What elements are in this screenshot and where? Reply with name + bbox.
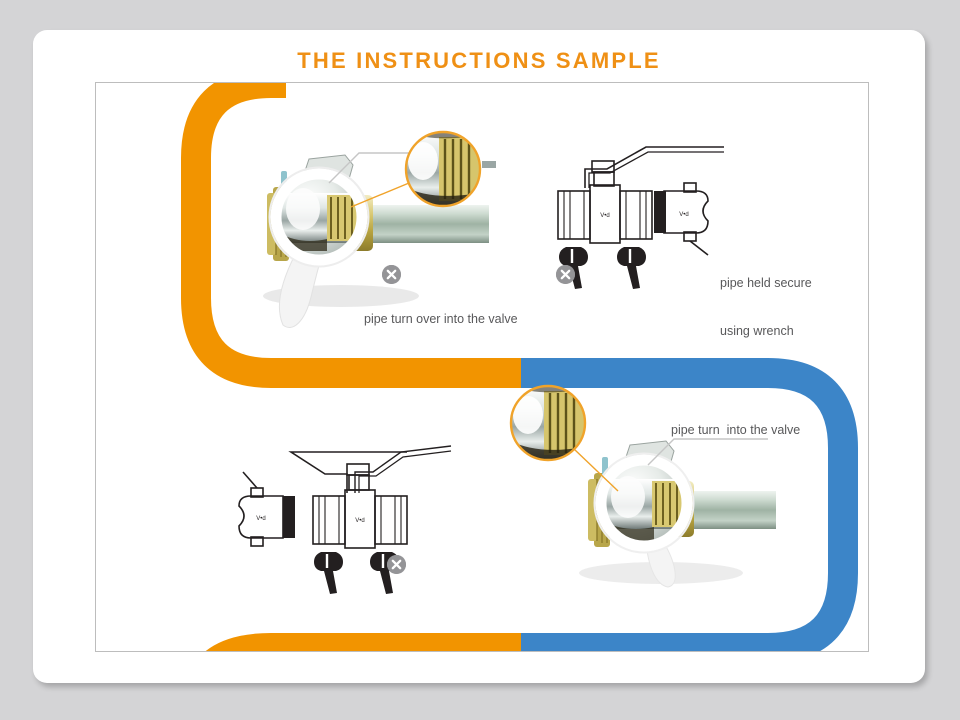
slide-root: THE INSTRUCTIONS SAMPLE <box>0 0 960 720</box>
valve-stem-nut <box>347 464 369 475</box>
x-marker-incorrect-3 <box>387 555 406 574</box>
callout-leader <box>690 241 708 255</box>
valve-lever <box>585 147 724 188</box>
valve-end-right <box>375 496 407 544</box>
x-marker-incorrect-2 <box>556 265 575 284</box>
x-marker-incorrect-1 <box>382 265 401 284</box>
content-frame: V•d V•d <box>95 82 869 652</box>
fitting-end-cap <box>283 496 295 538</box>
lineart-valve-wrench-bottom: V•d V•d <box>221 438 451 588</box>
photo-valve-top <box>231 121 496 336</box>
photo-valve-bottom <box>496 373 776 588</box>
valve-marking-2: V•d <box>256 516 265 522</box>
page-title: THE INSTRUCTIONS SAMPLE <box>33 48 925 74</box>
caption-line-1: pipe held secure <box>720 275 812 291</box>
valve-end-left <box>558 191 590 239</box>
callout-leader <box>243 472 257 488</box>
caption-line-2: using wrench <box>720 323 812 339</box>
wrench-icon-left <box>314 552 343 594</box>
caption-pipe-turn-into: pipe turn into the valve <box>671 422 800 438</box>
steel-pipe <box>692 491 776 529</box>
valve-marking-1: V•d <box>600 213 609 219</box>
caption-pipe-held-secure: pipe held secure using wrench <box>720 243 812 371</box>
zoom-callout-circle-icon <box>406 132 480 206</box>
valve-end-left <box>313 496 345 544</box>
steel-pipe <box>371 205 489 243</box>
caption-pipe-turn-over: pipe turn over into the valve <box>364 311 518 327</box>
path-segment-orange-bottom <box>196 648 521 652</box>
fitting-end-cap <box>654 191 666 233</box>
valve-marking-1: V•d <box>355 518 364 524</box>
callout-pipe-stub <box>482 161 496 168</box>
valve-end-right <box>620 191 652 239</box>
zoom-callout-circle-icon <box>511 386 585 460</box>
wrench-icon-right <box>617 247 646 289</box>
valve-marking-2: V•d <box>679 212 688 218</box>
slide-card: THE INSTRUCTIONS SAMPLE <box>33 30 925 683</box>
